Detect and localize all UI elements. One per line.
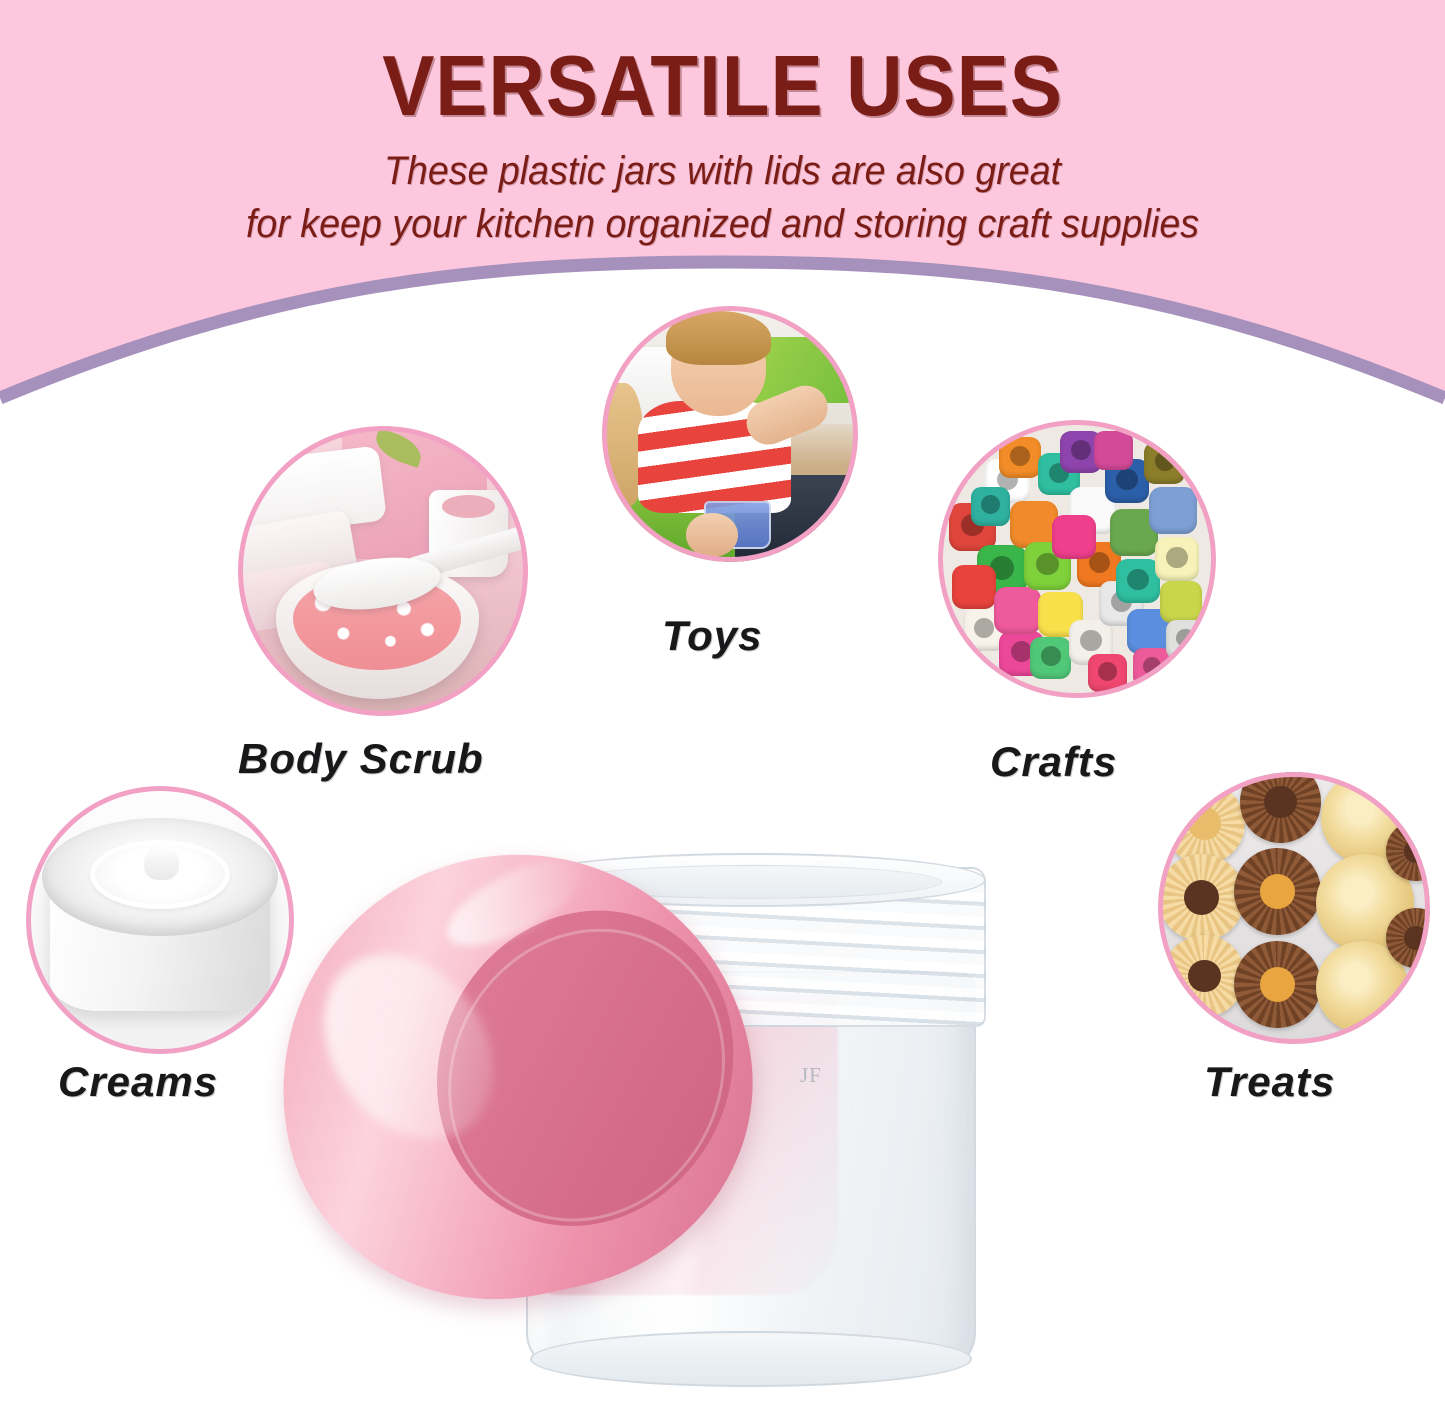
jar-base xyxy=(530,1331,972,1387)
caption-crafts: Crafts xyxy=(990,738,1117,786)
caption-body-scrub: Body Scrub xyxy=(238,735,484,783)
treats-image xyxy=(1158,772,1430,1044)
subtitle-line-1: These plastic jars with lids are also gr… xyxy=(43,129,1401,198)
creams-image xyxy=(26,786,294,1054)
product-jar-with-lid[interactable]: JF xyxy=(280,845,1140,1409)
use-circle-treats[interactable] xyxy=(1158,772,1430,1044)
use-circle-crafts[interactable] xyxy=(938,420,1216,698)
jar-embossed-mark: JF xyxy=(800,1063,822,1088)
body-scrub-image xyxy=(238,426,528,716)
subtitle-line-2: for keep your kitchen organized and stor… xyxy=(43,198,1401,251)
caption-creams: Creams xyxy=(58,1058,218,1106)
use-circle-toys[interactable] xyxy=(602,306,858,562)
use-circle-body-scrub[interactable] xyxy=(238,426,528,716)
header-text-block: VERSATILE USES These plastic jars with l… xyxy=(0,0,1445,251)
page-title: VERSATILE USES xyxy=(58,0,1387,129)
use-circle-creams[interactable] xyxy=(26,786,294,1054)
crafts-image xyxy=(938,420,1216,698)
caption-treats: Treats xyxy=(1204,1058,1335,1106)
toys-image xyxy=(602,306,858,562)
caption-toys: Toys xyxy=(662,612,762,660)
